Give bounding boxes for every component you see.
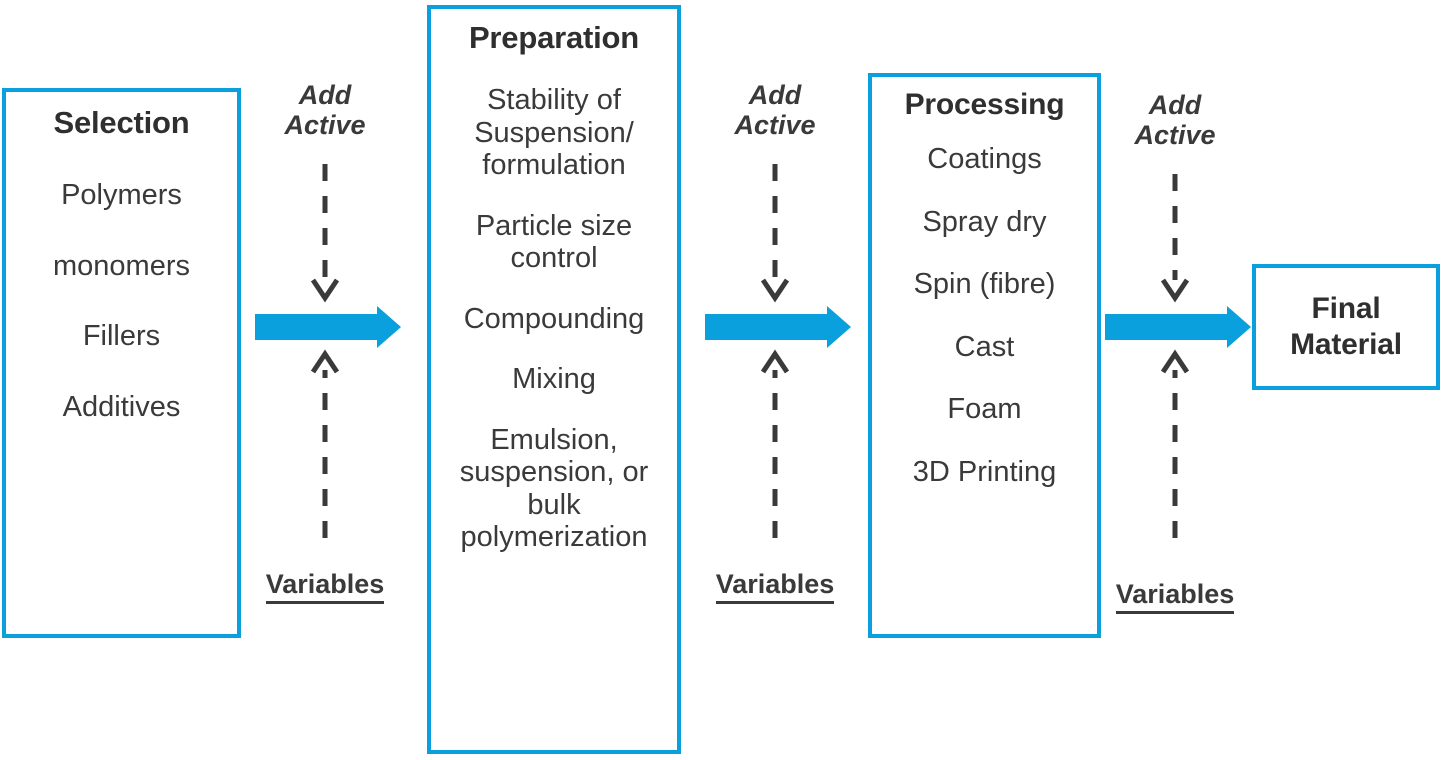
stage-item: Additives bbox=[63, 391, 181, 423]
stage-item: Stability of Suspension/ formulation bbox=[474, 84, 634, 181]
stage-box-selection[interactable]: Selection Polymers monomers Fillers Addi… bbox=[2, 88, 241, 638]
connector-bottom-label-text: Variables bbox=[1116, 579, 1235, 614]
stage-item: Compounding bbox=[464, 303, 645, 335]
blue-flow-arrow-icon bbox=[1085, 306, 1265, 348]
stage-title-selection: Selection bbox=[53, 106, 189, 139]
stage-item: Fillers bbox=[83, 320, 160, 352]
connector-bottom-label-text: Variables bbox=[266, 569, 385, 604]
connector-processing-to-final: Add Active Variables bbox=[1085, 90, 1265, 610]
stage-item: Spray dry bbox=[922, 206, 1046, 238]
stage-items-processing: Coatings Spray dry Spin (fibre) Cast Foa… bbox=[872, 143, 1097, 488]
dashed-down-arrow-icon bbox=[685, 164, 865, 304]
connector-top-label: Add Active bbox=[235, 80, 415, 140]
connector-bottom-label: Variables bbox=[1085, 579, 1265, 610]
connector-preparation-to-processing: Add Active Variables bbox=[685, 80, 865, 600]
dashed-up-arrow-icon bbox=[685, 348, 865, 538]
stage-item: Polymers bbox=[61, 179, 182, 211]
stage-item: monomers bbox=[53, 250, 190, 282]
stage-box-preparation[interactable]: Preparation Stability of Suspension/ for… bbox=[427, 5, 681, 754]
stage-items-selection: Polymers monomers Fillers Additives bbox=[6, 179, 237, 423]
blue-flow-arrow-icon bbox=[235, 306, 415, 348]
diagram-canvas: Selection Polymers monomers Fillers Addi… bbox=[0, 0, 1446, 760]
stage-box-processing[interactable]: Processing Coatings Spray dry Spin (fibr… bbox=[868, 73, 1101, 638]
connector-selection-to-preparation: Add Active Variables bbox=[235, 80, 415, 600]
stage-item: Spin (fibre) bbox=[914, 268, 1056, 300]
stage-item: Mixing bbox=[512, 363, 596, 395]
stage-item: Emulsion, suspension, or bulk polymeriza… bbox=[460, 424, 649, 554]
stage-box-final-material[interactable]: Final Material bbox=[1252, 264, 1440, 390]
connector-bottom-label-text: Variables bbox=[716, 569, 835, 604]
connector-bottom-label: Variables bbox=[685, 569, 865, 600]
blue-flow-arrow-icon bbox=[685, 306, 865, 348]
stage-item: Coatings bbox=[927, 143, 1041, 175]
dashed-up-arrow-icon bbox=[235, 348, 415, 538]
stage-item: Foam bbox=[947, 393, 1021, 425]
stage-title-processing: Processing bbox=[905, 89, 1065, 121]
dashed-down-arrow-icon bbox=[1085, 174, 1265, 304]
dashed-up-arrow-icon bbox=[1085, 348, 1265, 538]
connector-top-label: Add Active bbox=[685, 80, 865, 140]
dashed-down-arrow-icon bbox=[235, 164, 415, 304]
stage-item: 3D Printing bbox=[913, 456, 1056, 488]
stage-items-preparation: Stability of Suspension/ formulation Par… bbox=[431, 84, 677, 553]
stage-title-final-material: Final Material bbox=[1256, 291, 1436, 363]
stage-item: Cast bbox=[955, 331, 1015, 363]
stage-item: Particle size control bbox=[476, 210, 632, 275]
connector-bottom-label: Variables bbox=[235, 569, 415, 600]
connector-top-label: Add Active bbox=[1085, 90, 1265, 150]
stage-title-preparation: Preparation bbox=[469, 21, 639, 54]
